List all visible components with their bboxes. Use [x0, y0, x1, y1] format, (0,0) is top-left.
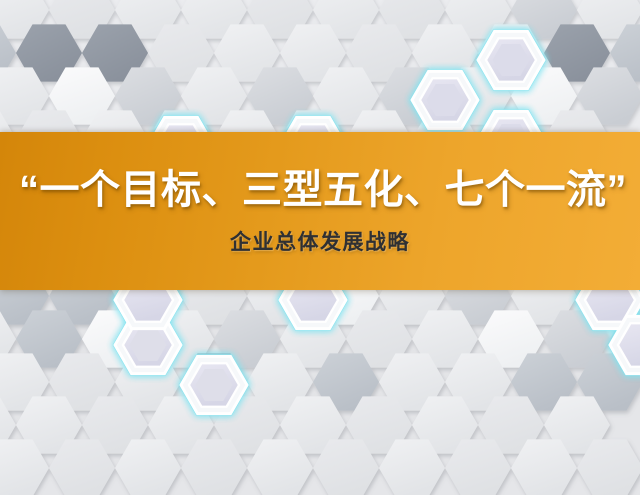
page-title: “一个目标、三型五化、七个一流” [5, 168, 635, 213]
title-banner: “一个目标、三型五化、七个一流” 企业总体发展战略 [0, 132, 640, 290]
page-subtitle: 企业总体发展战略 [230, 231, 410, 254]
slide-canvas: “一个目标、三型五化、七个一流” 企业总体发展战略 [0, 0, 640, 495]
